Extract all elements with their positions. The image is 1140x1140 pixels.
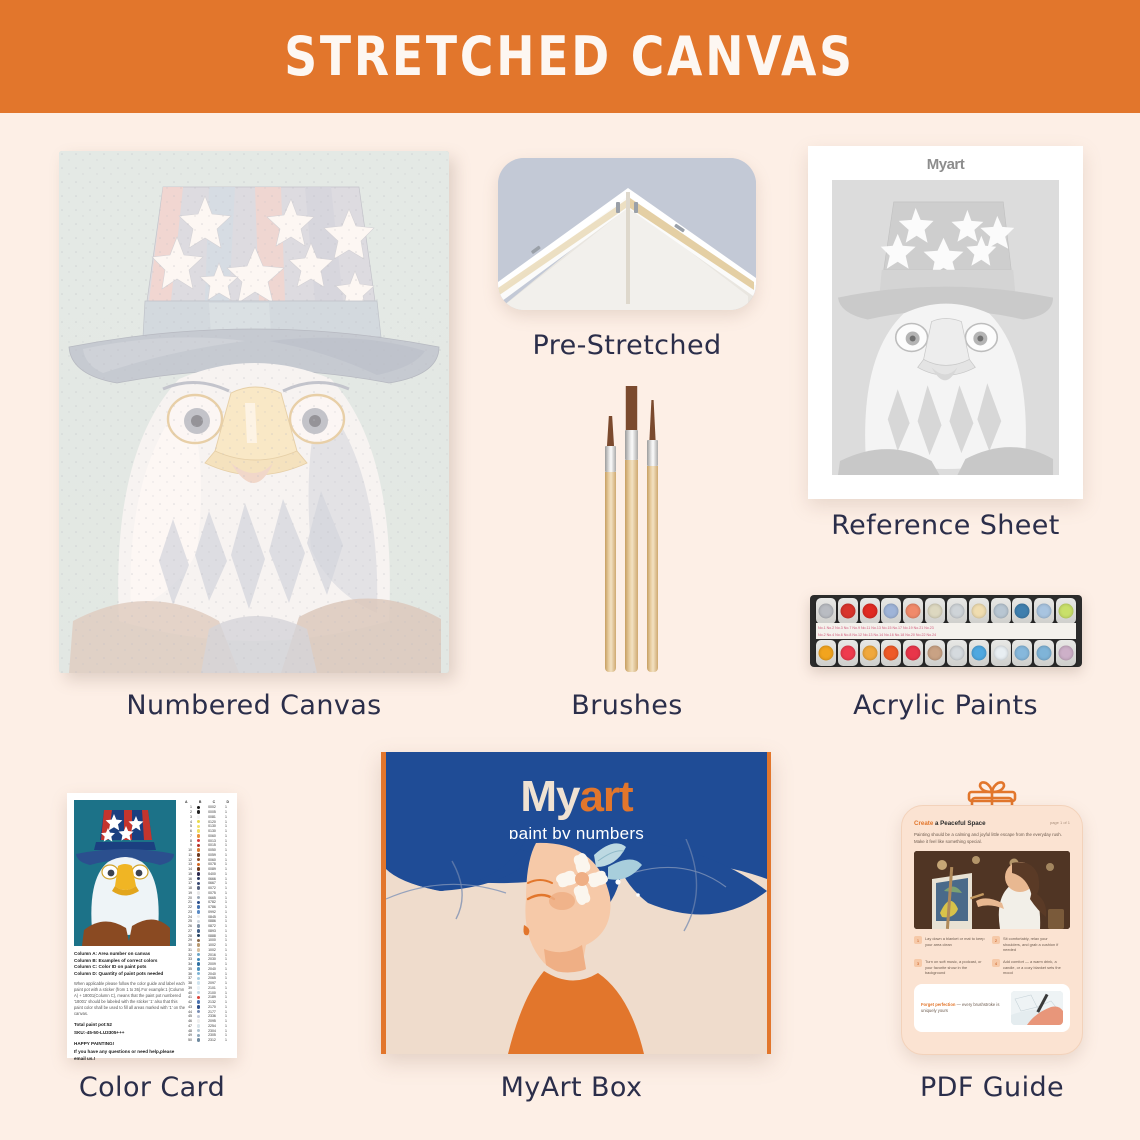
- acrylic-paints-product: No.1 No.2 No.3 No.7 No.9 No.11 No.13 No.…: [810, 595, 1082, 667]
- row-index: 13: [185, 862, 192, 866]
- paint-pot-color: [1037, 646, 1052, 661]
- color-card-row: 4221321: [184, 1000, 230, 1005]
- row-index: 2: [185, 810, 192, 814]
- pdf-title-rest: a Peaceful Space: [933, 820, 985, 827]
- caption-acrylic-paints: Acrylic Paints: [808, 690, 1083, 721]
- paint-pot-color: [949, 646, 964, 661]
- paint-pot: [860, 598, 880, 624]
- row-qty: 1: [223, 1029, 229, 1033]
- row-index: 45: [185, 1014, 192, 1018]
- row-qty: 1: [223, 943, 229, 947]
- paint-pot: [903, 598, 923, 624]
- brushes-product: [585, 386, 677, 672]
- row-code: 2040: [205, 967, 219, 971]
- page-header: STRETCHED CANVAS: [0, 0, 1140, 113]
- row-code: 0075: [205, 891, 219, 895]
- row-code: 2304: [205, 1029, 219, 1033]
- reference-sheet-logo: Myart: [808, 156, 1083, 173]
- color-card-row: 5023121: [184, 1038, 230, 1043]
- row-index: 44: [185, 1010, 192, 1014]
- row-swatch: [196, 929, 201, 932]
- row-code: 2095: [205, 1019, 219, 1023]
- pdf-guide-tip: 3Turn on soft music, a podcast, or your …: [914, 959, 992, 976]
- caption-brushes: Brushes: [498, 690, 756, 721]
- row-swatch: [196, 972, 201, 975]
- row-qty: 1: [223, 843, 229, 847]
- row-qty: 1: [223, 805, 229, 809]
- color-card-row: 1200601: [184, 857, 230, 862]
- row-index: 38: [185, 981, 192, 985]
- total-paint-pot: Total paint pot:52: [74, 1021, 186, 1028]
- row-qty: 1: [223, 1000, 229, 1004]
- row-qty: 1: [223, 972, 229, 976]
- row-code: 0666: [205, 877, 219, 881]
- row-swatch: [196, 981, 201, 984]
- color-card-row: 200051: [184, 810, 230, 815]
- paint-pot-color: [840, 604, 855, 619]
- brush-tip: [605, 416, 616, 446]
- row-swatch: [196, 920, 201, 923]
- paint-pot: [1056, 640, 1076, 666]
- logo-my: My: [520, 772, 579, 821]
- row-index: 25: [185, 919, 192, 923]
- row-swatch: [196, 1029, 201, 1032]
- paint-pot: [816, 640, 836, 666]
- row-qty: 1: [223, 867, 229, 871]
- caption-reference-sheet: Reference Sheet: [808, 510, 1083, 541]
- row-qty: 1: [223, 1019, 229, 1023]
- row-code: 0400: [205, 872, 219, 876]
- row-swatch: [196, 986, 201, 989]
- row-swatch: [196, 1000, 201, 1003]
- color-card-row: 4923051: [184, 1033, 230, 1038]
- row-swatch: [196, 839, 201, 842]
- row-index: 31: [185, 948, 192, 952]
- color-card-row: 2107821: [184, 900, 230, 905]
- row-code: 2030: [205, 957, 219, 961]
- help-text: If you have any questions or need help,p…: [74, 1048, 186, 1063]
- paint-pot-color: [928, 646, 943, 661]
- row-code: 0665: [205, 896, 219, 900]
- paint-pot-color: [862, 604, 877, 619]
- row-swatch: [196, 967, 201, 970]
- pdf-guide-tips: 1Lay down a blanket or mat to keep your …: [914, 936, 1070, 982]
- row-index: 36: [185, 972, 192, 976]
- row-swatch: [196, 810, 201, 813]
- row-code: 0130: [205, 829, 219, 833]
- row-swatch: [196, 901, 201, 904]
- row-code: 2101: [205, 986, 219, 990]
- row-index: 1: [185, 805, 192, 809]
- row-index: 50: [185, 1038, 192, 1042]
- numbered-canvas-artwork: [59, 151, 449, 673]
- row-qty: 1: [223, 957, 229, 961]
- row-index: 41: [185, 995, 192, 999]
- color-card-row: 3921011: [184, 986, 230, 991]
- legend-line-c: Column C: Color ID on paint pots: [74, 964, 186, 971]
- caption-pdf-guide: PDF Guide: [901, 1072, 1083, 1103]
- brush-thin: [605, 416, 616, 672]
- paint-pot: [860, 640, 880, 666]
- page-title: STRETCHED CANVAS: [285, 25, 856, 88]
- paint-pot-color: [884, 646, 899, 661]
- brush-tip: [647, 400, 658, 440]
- row-code: 0081: [205, 815, 219, 819]
- row-code: 0005: [205, 810, 219, 814]
- row-code: 2189: [205, 995, 219, 999]
- row-swatch: [196, 1019, 201, 1022]
- row-code: 0888: [205, 934, 219, 938]
- row-swatch: [196, 848, 201, 851]
- row-code: 2065: [205, 976, 219, 980]
- color-card-row: 1000501: [184, 848, 230, 853]
- row-index: 3: [185, 815, 192, 819]
- row-qty: 1: [223, 1033, 229, 1037]
- row-swatch: [196, 934, 201, 937]
- row-swatch: [196, 882, 201, 885]
- canvas-frame: [59, 151, 449, 673]
- paint-pot: [1034, 598, 1054, 624]
- paint-pot: [903, 640, 923, 666]
- row-index: 34: [185, 962, 192, 966]
- row-swatch: [196, 815, 201, 818]
- color-card-row: 1900751: [184, 891, 230, 896]
- myart-logo: Myart paint by numbers: [386, 772, 767, 844]
- pdf-guide-tip: 4Add comfort — a warm drink, a candle, o…: [992, 959, 1070, 976]
- color-card-row: 1100591: [184, 853, 230, 858]
- paint-pot: [969, 598, 989, 624]
- row-swatch: [196, 877, 201, 880]
- row-swatch: [196, 915, 201, 918]
- paint-pot-color: [884, 604, 899, 619]
- row-qty: 1: [223, 1038, 229, 1042]
- paint-pot: [925, 640, 945, 666]
- row-code: 2254: [205, 1024, 219, 1028]
- row-code: 2009: [205, 962, 219, 966]
- row-qty: 1: [223, 853, 229, 857]
- pdf-guide-callout: Forget perfection — every brushstroke is…: [914, 984, 1070, 1032]
- color-card-row: 1706671: [184, 881, 230, 886]
- row-index: 47: [185, 1024, 192, 1028]
- paint-pot-color: [971, 604, 986, 619]
- pdf-guide-product: page 1 of 1 Create a Peaceful Space Pain…: [901, 805, 1083, 1055]
- color-card-thumbnail: [74, 800, 176, 946]
- row-qty: 1: [223, 986, 229, 990]
- row-code: 0120: [205, 820, 219, 824]
- paint-pot-color: [906, 646, 921, 661]
- row-code: 2305: [205, 1033, 219, 1037]
- row-qty: 1: [223, 991, 229, 995]
- row-index: 17: [185, 881, 192, 885]
- color-card-row: 100021: [184, 805, 230, 810]
- paint-pot-color: [993, 604, 1008, 619]
- paint-pot-color: [862, 646, 877, 661]
- row-qty: 1: [223, 858, 229, 862]
- paint-pot-color: [949, 604, 964, 619]
- row-qty: 1: [223, 900, 229, 904]
- row-index: 29: [185, 938, 192, 942]
- row-qty: 1: [223, 1014, 229, 1018]
- column-header-b: B: [199, 800, 202, 804]
- row-qty: 1: [223, 824, 229, 828]
- row-code: 0060: [205, 834, 219, 838]
- row-swatch: [196, 829, 201, 832]
- paint-pot: [947, 598, 967, 624]
- row-code: 2132: [205, 1000, 219, 1004]
- row-code: 2312: [205, 1038, 219, 1042]
- row-swatch: [196, 834, 201, 837]
- row-swatch: [196, 939, 201, 942]
- color-card-row: 601301: [184, 829, 230, 834]
- legend-line-b: Column B: Examples of correct colors: [74, 958, 186, 965]
- row-index: 42: [185, 1000, 192, 1004]
- row-swatch: [196, 863, 201, 866]
- paint-pot-color: [1015, 646, 1030, 661]
- row-qty: 1: [223, 1024, 229, 1028]
- color-card-row: 2910001: [184, 938, 230, 943]
- column-header-a: A: [185, 800, 188, 804]
- grayscale-eagle-illustration: [832, 180, 1059, 475]
- row-index: 7: [185, 834, 192, 838]
- color-card-row: 800131: [184, 838, 230, 843]
- brush-round: [647, 400, 658, 672]
- row-index: 48: [185, 1029, 192, 1033]
- row-index: 39: [185, 986, 192, 990]
- color-card-row: 4021001: [184, 990, 230, 995]
- row-code: 2100: [205, 991, 219, 995]
- row-qty: 1: [223, 810, 229, 814]
- color-card-row: 4620951: [184, 1019, 230, 1024]
- color-card-row: 700601: [184, 834, 230, 839]
- row-swatch: [196, 910, 201, 913]
- tip-text: Lay down a blanket or mat to keep your a…: [925, 936, 988, 953]
- row-swatch: [196, 905, 201, 908]
- numbered-canvas-product: [59, 151, 449, 673]
- color-card-row: 2408451: [184, 914, 230, 919]
- color-card-row: 3620401: [184, 971, 230, 976]
- color-card-instructions: When applicable please follow the color …: [74, 981, 186, 1018]
- row-qty: 1: [223, 896, 229, 900]
- column-header-c: C: [213, 800, 216, 804]
- myart-box-illustration: [386, 839, 767, 1054]
- paint-label-line-1: No.1 No.2 No.3 No.7 No.9 No.11 No.13 No.…: [818, 626, 1074, 630]
- color-card-row: 4321701: [184, 1005, 230, 1010]
- row-qty: 1: [223, 862, 229, 866]
- caption-pre-stretched: Pre-Stretched: [498, 330, 756, 361]
- row-qty: 1: [223, 839, 229, 843]
- paint-pot-color: [928, 604, 943, 619]
- happy-painting-text: HAPPY PAINTING!: [74, 1040, 186, 1047]
- row-index: 10: [185, 848, 192, 852]
- color-card-row: 2207861: [184, 905, 230, 910]
- color-card-row: 501301: [184, 824, 230, 829]
- row-qty: 1: [223, 905, 229, 909]
- color-card-row: 3220161: [184, 952, 230, 957]
- row-qty: 1: [223, 976, 229, 980]
- row-code: 1002: [205, 943, 219, 947]
- row-code: 2016: [205, 953, 219, 957]
- row-code: 0050: [205, 848, 219, 852]
- paint-pot-color: [1058, 646, 1073, 661]
- row-qty: 1: [223, 877, 229, 881]
- paint-pot-color: [1037, 604, 1052, 619]
- row-qty: 1: [223, 995, 229, 999]
- eagle-thumbnail-illustration: [74, 800, 176, 946]
- pdf-page-label: page 1 of 1: [1050, 820, 1070, 825]
- row-swatch: [196, 1034, 201, 1037]
- pdf-guide-tip: 1Lay down a blanket or mat to keep your …: [914, 936, 992, 953]
- row-code: 0886: [205, 919, 219, 923]
- pdf-guide-tip: 2Sit comfortably, relax your shoulders, …: [992, 936, 1070, 953]
- tip-number-badge: 4: [992, 959, 1000, 967]
- column-header-d: D: [226, 800, 229, 804]
- row-index: 21: [185, 900, 192, 904]
- row-index: 26: [185, 924, 192, 928]
- callout-bold: Forget perfection: [921, 1002, 955, 1007]
- row-index: 19: [185, 891, 192, 895]
- row-swatch: [196, 996, 201, 999]
- row-qty: 1: [223, 948, 229, 952]
- row-code: 0786: [205, 905, 219, 909]
- color-card-row: 1504001: [184, 872, 230, 877]
- color-card-row: 3720651: [184, 976, 230, 981]
- color-card-row: 3520401: [184, 967, 230, 972]
- row-swatch: [196, 924, 201, 927]
- row-code: 0845: [205, 915, 219, 919]
- row-swatch: [196, 953, 201, 956]
- brush-tip: [625, 386, 638, 430]
- row-index: 40: [185, 991, 192, 995]
- paint-pot: [925, 598, 945, 624]
- row-code: 0130: [205, 824, 219, 828]
- pre-stretched-photo: [498, 158, 756, 310]
- reference-sheet-product: Myart: [808, 146, 1083, 499]
- row-code: 0078: [205, 862, 219, 866]
- row-swatch: [196, 1024, 201, 1027]
- row-index: 33: [185, 957, 192, 961]
- row-swatch: [196, 977, 201, 980]
- row-index: 35: [185, 967, 192, 971]
- color-card-row: 1606661: [184, 876, 230, 881]
- row-index: 12: [185, 858, 192, 862]
- paint-pot: [838, 598, 858, 624]
- tip-number-badge: 1: [914, 936, 922, 944]
- row-swatch: [196, 958, 201, 961]
- canvas-corner-illustration: [498, 158, 756, 310]
- row-qty: 1: [223, 967, 229, 971]
- paint-pot-color: [819, 646, 834, 661]
- row-qty: 1: [223, 915, 229, 919]
- tip-number-badge: 2: [992, 936, 1000, 944]
- myart-box-product: Myart paint by numbers: [381, 752, 771, 1054]
- row-code: 2170: [205, 1005, 219, 1009]
- row-qty: 1: [223, 962, 229, 966]
- row-index: 8: [185, 839, 192, 843]
- row-code: 1000: [205, 938, 219, 942]
- hand-painting-illustration: [1011, 991, 1063, 1025]
- row-swatch: [196, 844, 201, 847]
- pdf-guide-title: Create a Peaceful Space: [914, 820, 1070, 827]
- color-card-row: 4823041: [184, 1028, 230, 1033]
- color-card-legend: Column A: Area number on canvas Column B…: [74, 951, 186, 1062]
- paint-row-bottom: [816, 640, 1076, 666]
- row-code: 0782: [205, 900, 219, 904]
- row-index: 49: [185, 1033, 192, 1037]
- row-code: 0893: [205, 929, 219, 933]
- row-qty: 1: [223, 815, 229, 819]
- paint-pot-color: [1015, 604, 1030, 619]
- row-qty: 1: [223, 872, 229, 876]
- paint-pot: [991, 598, 1011, 624]
- row-swatch: [196, 943, 201, 946]
- row-code: 0089: [205, 867, 219, 871]
- paint-pot-color: [840, 646, 855, 661]
- paint-pot: [881, 598, 901, 624]
- paint-pot: [991, 640, 1011, 666]
- row-qty: 1: [223, 910, 229, 914]
- paint-pot: [1034, 640, 1054, 666]
- row-index: 20: [185, 896, 192, 900]
- row-index: 11: [185, 853, 192, 857]
- row-index: 24: [185, 915, 192, 919]
- paint-pot: [881, 640, 901, 666]
- color-card-row: 4121891: [184, 995, 230, 1000]
- paint-pot-color: [819, 604, 834, 619]
- row-swatch: [196, 872, 201, 875]
- row-qty: 1: [223, 953, 229, 957]
- color-card-row: 3320301: [184, 957, 230, 962]
- color-card-product: Column A: Area number on canvas Column B…: [67, 793, 237, 1058]
- paint-pot-color: [971, 646, 986, 661]
- tip-text: Turn on soft music, a podcast, or your f…: [925, 959, 988, 976]
- color-card-row: 1300781: [184, 862, 230, 867]
- row-swatch: [196, 962, 201, 965]
- pdf-guide-photo: [914, 851, 1070, 929]
- reference-sheet-image: [832, 180, 1059, 475]
- row-swatch: [196, 886, 201, 889]
- row-code: 0013: [205, 839, 219, 843]
- pdf-title-highlight: Create: [914, 820, 933, 827]
- row-index: 30: [185, 943, 192, 947]
- color-card-row: 4421771: [184, 1009, 230, 1014]
- color-card-row: 1400891: [184, 867, 230, 872]
- row-qty: 1: [223, 881, 229, 885]
- color-card-row: 2309921: [184, 910, 230, 915]
- paint-pot: [947, 640, 967, 666]
- paint-pot: [838, 640, 858, 666]
- caption-myart-box: MyArt Box: [381, 1072, 762, 1103]
- row-qty: 1: [223, 834, 229, 838]
- tip-text: Sit comfortably, relax your shoulders, a…: [1003, 936, 1066, 953]
- row-code: 1002: [205, 948, 219, 952]
- row-qty: 1: [223, 981, 229, 985]
- color-card-row: 1800721: [184, 886, 230, 891]
- paint-pot: [1012, 598, 1032, 624]
- paint-pot: [816, 598, 836, 624]
- row-qty: 1: [223, 886, 229, 890]
- row-qty: 1: [223, 924, 229, 928]
- paint-pot: [1012, 640, 1032, 666]
- row-code: 0002: [205, 805, 219, 809]
- row-swatch: [196, 858, 201, 861]
- row-index: 6: [185, 829, 192, 833]
- row-qty: 1: [223, 848, 229, 852]
- logo-art: art: [579, 772, 632, 821]
- pdf-guide-subtitle: Painting should be a calming and joyful …: [914, 831, 1070, 845]
- row-code: 0015: [205, 843, 219, 847]
- row-code: 0060: [205, 858, 219, 862]
- row-index: 16: [185, 877, 192, 881]
